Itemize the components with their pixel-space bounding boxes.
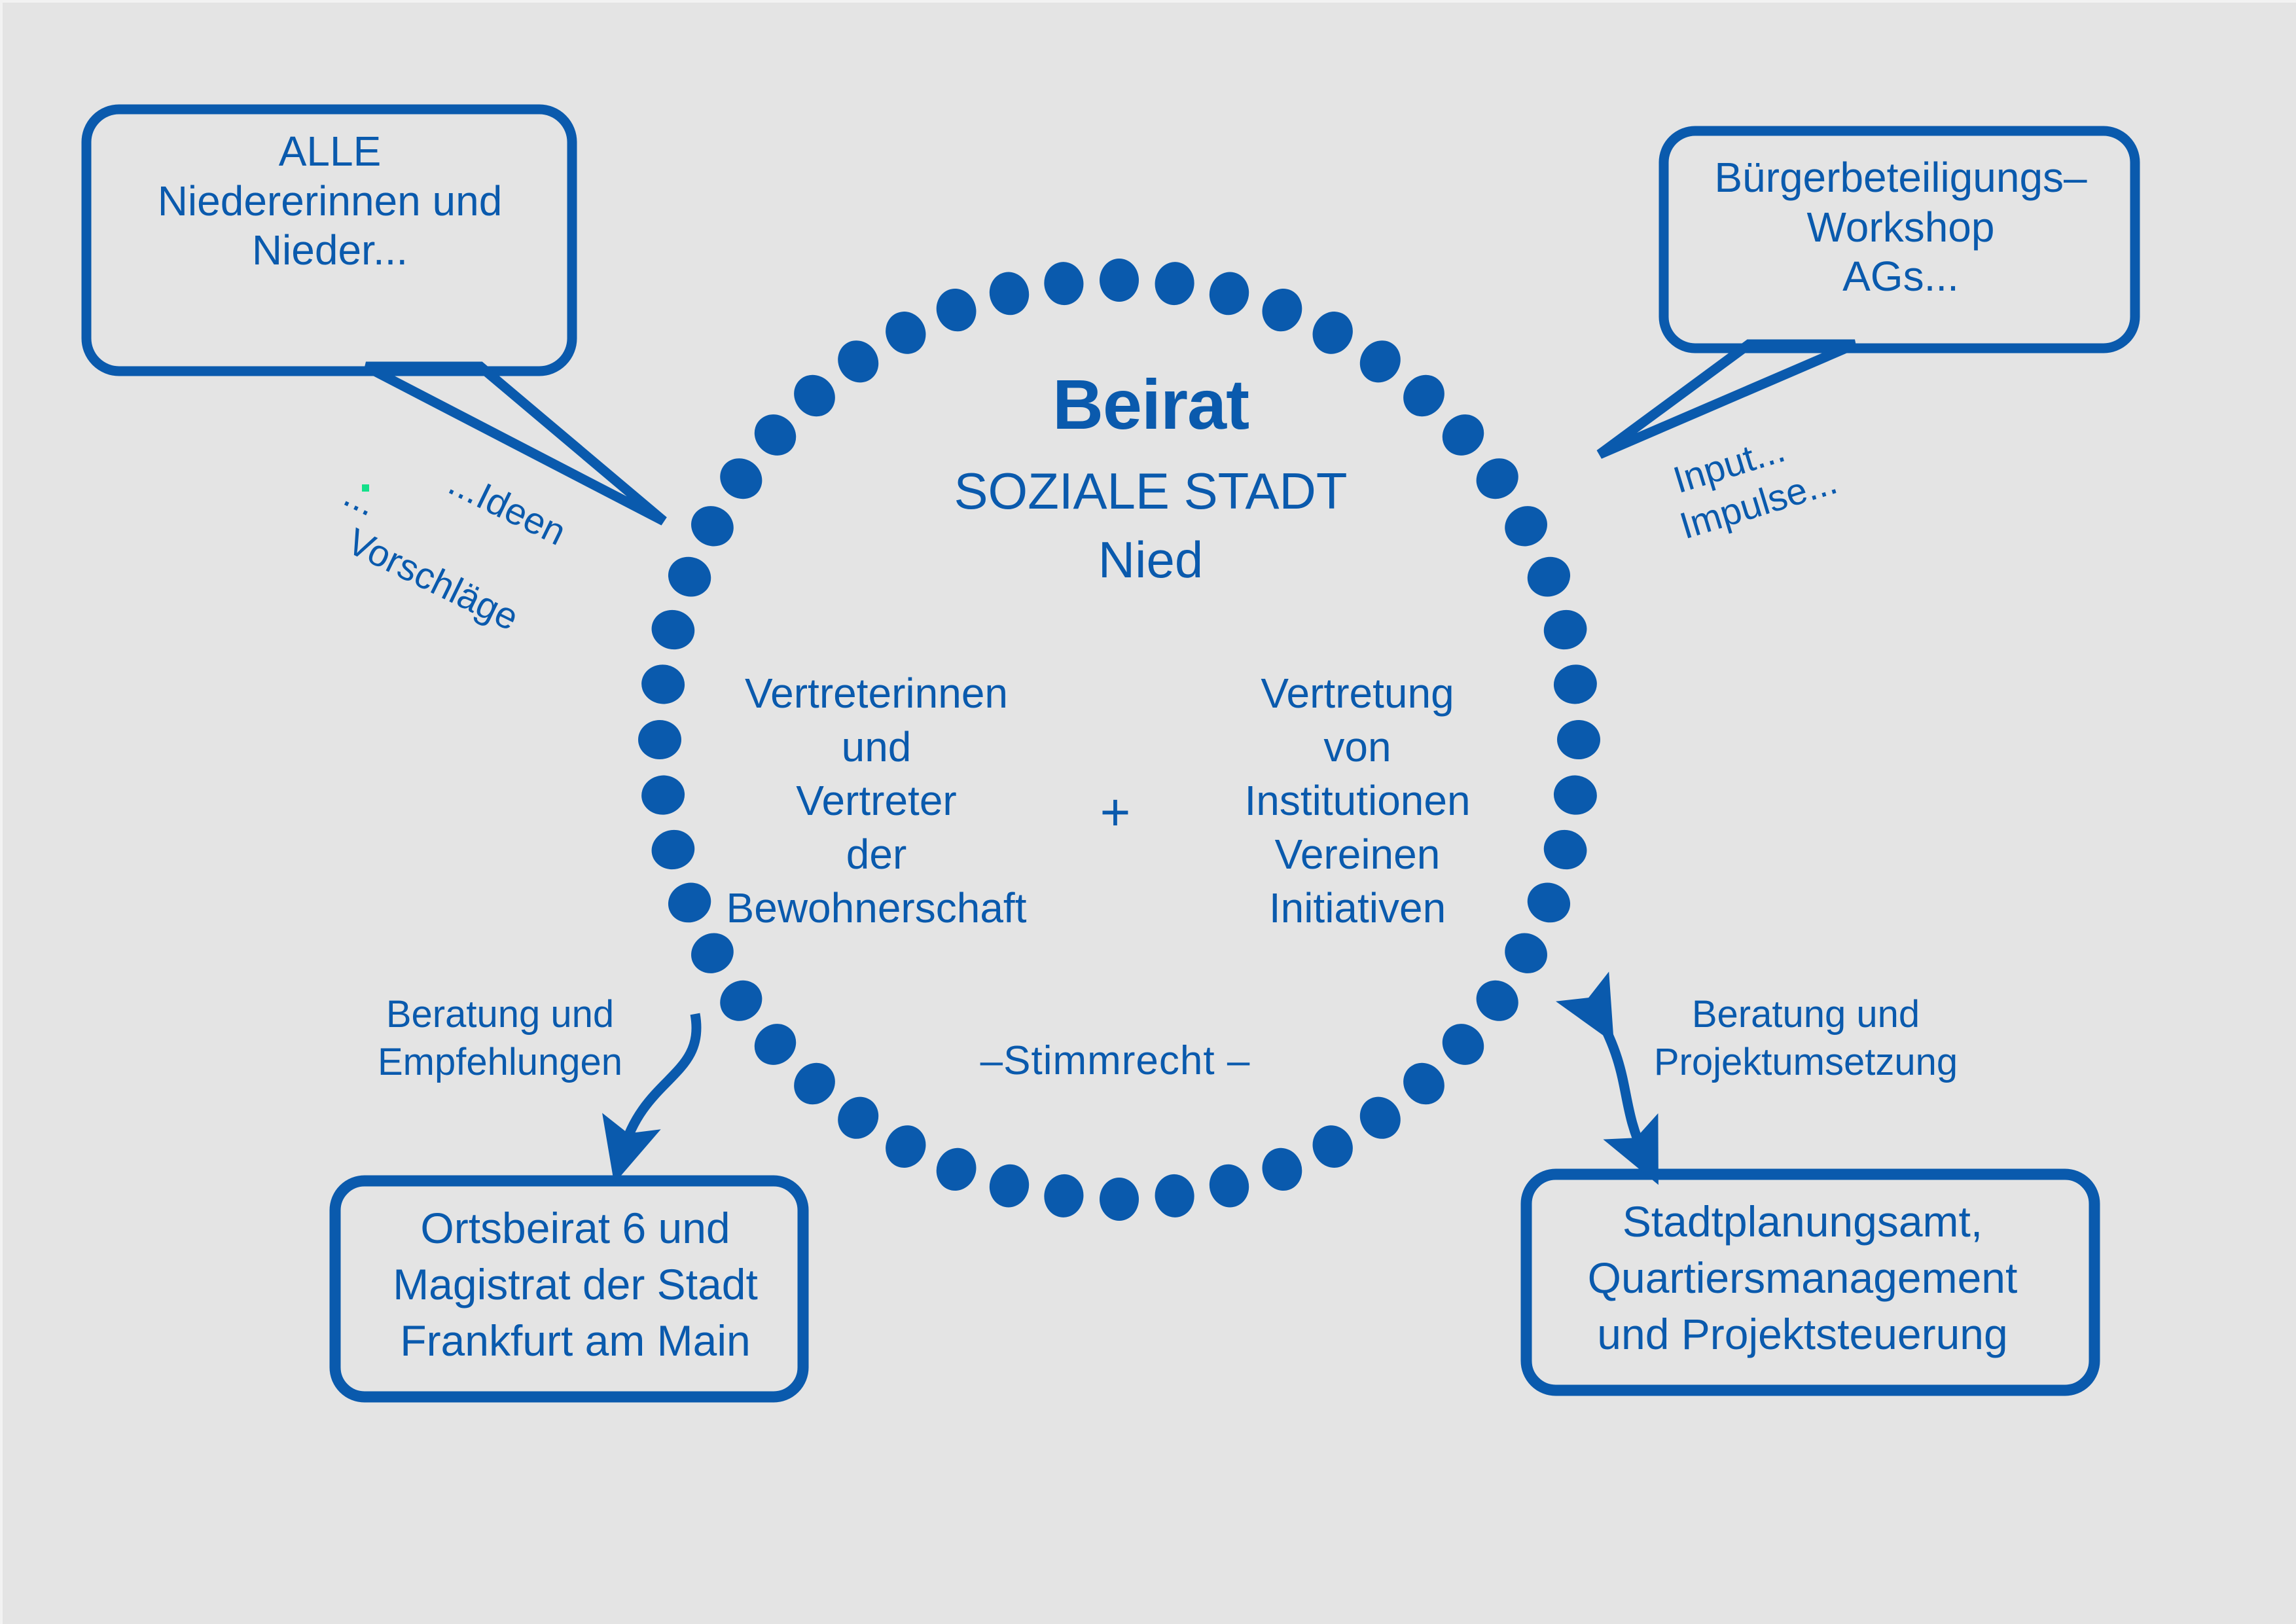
circle-dot xyxy=(1256,283,1308,337)
circle-dot xyxy=(1498,499,1554,554)
circle-dot xyxy=(1395,1055,1453,1113)
circle-dot xyxy=(1153,260,1196,308)
speech-bubble-right-label: Bürgerbeteiligungs– Workshop AGs... xyxy=(1665,153,2136,302)
circle-dot xyxy=(878,1118,933,1174)
plus-operator: + xyxy=(1066,782,1164,843)
circle-dot xyxy=(1469,972,1526,1029)
circle-dot xyxy=(1042,1172,1086,1220)
circle-dot xyxy=(712,450,770,507)
circle-dot xyxy=(746,1015,804,1074)
circle-dot xyxy=(639,773,687,817)
circle-dot xyxy=(647,825,698,874)
circle-dot xyxy=(1557,720,1600,759)
circle-dot xyxy=(830,1089,887,1147)
circle-dot xyxy=(1100,1178,1139,1221)
circle-dot xyxy=(638,720,681,759)
circle-dot xyxy=(1305,304,1360,361)
label-beratung-projektumsetzung: Beratung und Projektumsetzung xyxy=(1632,991,1979,1086)
center-column-left: Vertreterinnen und Vertreter der Bewohne… xyxy=(693,667,1060,935)
center-subtitle-line2: Nied xyxy=(823,530,1478,590)
circle-dot xyxy=(712,972,770,1029)
center-footnote-stimmrecht: –Stimmrecht – xyxy=(919,1037,1312,1085)
circle-dot xyxy=(639,662,687,706)
circle-dot xyxy=(746,406,804,464)
circle-dot xyxy=(1539,825,1590,874)
circle-dot xyxy=(1352,1089,1408,1147)
circle-dot xyxy=(878,304,933,361)
center-title: Beirat xyxy=(823,363,1478,446)
label-beratung-empfehlungen: Beratung und Empfehlungen xyxy=(343,991,657,1086)
circle-dot xyxy=(930,1142,982,1197)
center-subtitle-line1: SOZIALE STADT xyxy=(823,461,1478,521)
circle-dot xyxy=(1305,1118,1360,1174)
circle-dot xyxy=(1552,773,1600,817)
circle-dot xyxy=(1153,1172,1196,1220)
circle-dot xyxy=(1552,662,1600,706)
speech-bubble-left-label: ALLE Niedererinnen und Nieder... xyxy=(101,127,559,276)
circle-dot xyxy=(785,1055,844,1113)
diagram-canvas: ALLE Niedererinnen und Nieder... Bürgerb… xyxy=(0,0,2296,1624)
circle-dot xyxy=(684,499,740,554)
circle-dot xyxy=(1100,259,1139,302)
center-column-right: Vertretung von Institutionen Vereinen In… xyxy=(1174,667,1541,935)
circle-dot xyxy=(985,1160,1033,1211)
circle-dot xyxy=(1539,605,1590,654)
circle-dot xyxy=(1434,1015,1492,1074)
box-stadtplanungsamt-label: Stadtplanungsamt, Quartiersmanagement un… xyxy=(1521,1194,2084,1362)
circle-dot xyxy=(985,268,1033,319)
circle-dot xyxy=(1205,268,1253,319)
circle-dot xyxy=(1256,1142,1308,1197)
box-ortsbeirat-label: Ortsbeirat 6 und Magistrat der Stadt Fra… xyxy=(343,1200,808,1369)
circle-dot xyxy=(1042,260,1086,308)
circle-dot xyxy=(1522,550,1576,603)
circle-dot xyxy=(930,283,982,337)
circle-dot xyxy=(1205,1160,1253,1211)
